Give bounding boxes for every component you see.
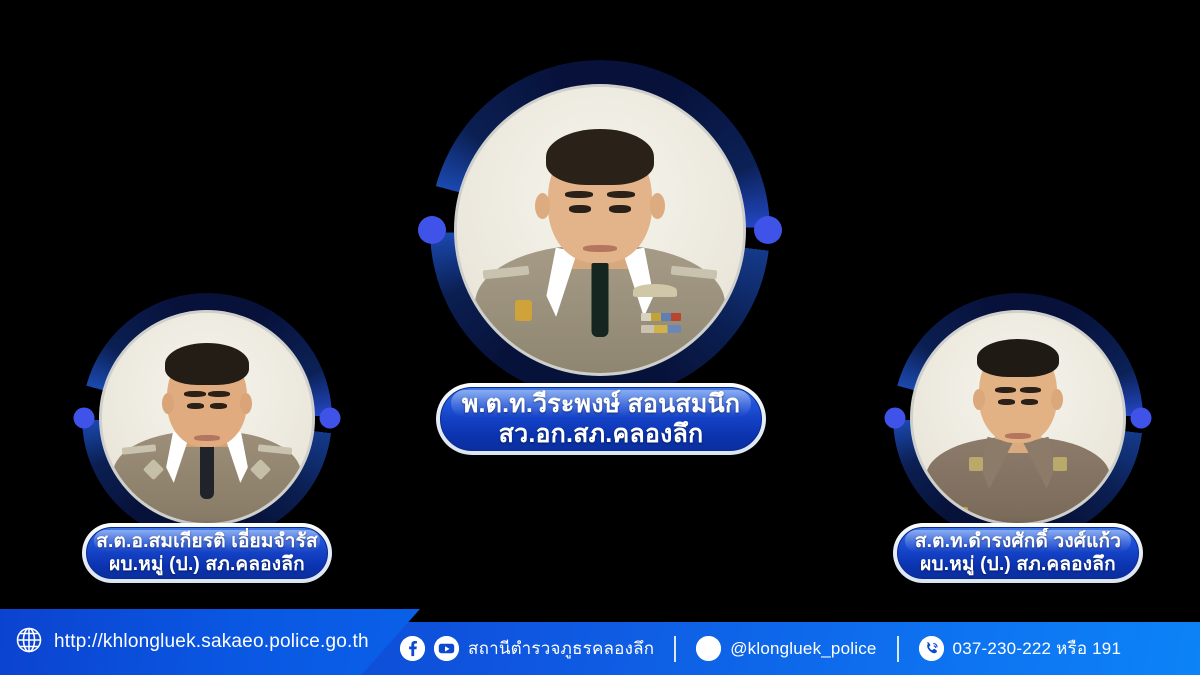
footer-divider-2 bbox=[897, 636, 899, 662]
officer-photo-right bbox=[913, 313, 1123, 523]
officer-name: ส.ต.ท.ดำรงศักดิ์ วงศ์แก้ว bbox=[915, 530, 1121, 553]
officer-rank: สว.อก.สภ.คลองลึก bbox=[499, 419, 704, 450]
officer-card-left: ส.ต.อ.สมเกียรติ เอี่ยมจำรัส ผบ.หมู่ (ป.)… bbox=[82, 293, 332, 543]
officer-card-center: พ.ต.ท.วีระพงษ์ สอนสมนึก สว.อก.สภ.คลองลึก bbox=[430, 60, 770, 400]
youtube-icon[interactable] bbox=[434, 636, 459, 661]
globe-icon bbox=[14, 625, 44, 660]
officer-card-right: ส.ต.ท.ดำรงศักดิ์ วงศ์แก้ว ผบ.หมู่ (ป.) ส… bbox=[893, 293, 1143, 543]
phone-icon[interactable] bbox=[919, 636, 944, 661]
officer-rank: ผบ.หมู่ (ป.) สภ.คลองลึก bbox=[109, 553, 305, 576]
website-url[interactable]: http://khlongluek.sakaeo.police.go.th bbox=[54, 631, 369, 653]
social-tiktok[interactable]: @klongluek_police bbox=[696, 636, 876, 661]
contact-phone-label: 037-230-222 หรือ 191 bbox=[953, 635, 1122, 662]
ring-dot-left-icon bbox=[74, 408, 95, 429]
ring-dot-right-icon bbox=[1131, 408, 1152, 429]
facebook-icon[interactable] bbox=[400, 636, 425, 661]
contact-phone[interactable]: 037-230-222 หรือ 191 bbox=[919, 635, 1122, 662]
officer-name: ส.ต.อ.สมเกียรติ เอี่ยมจำรัส bbox=[96, 530, 318, 553]
officer-figure bbox=[457, 87, 743, 373]
footer-divider-1 bbox=[674, 636, 676, 662]
social-facebook-youtube[interactable]: สถานีตำรวจภูธรคลองลึก bbox=[400, 635, 654, 662]
name-plate-right: ส.ต.ท.ดำรงศักดิ์ วงศ์แก้ว ผบ.หมู่ (ป.) ส… bbox=[893, 523, 1143, 583]
name-plate-center: พ.ต.ท.วีระพงษ์ สอนสมนึก สว.อก.สภ.คลองลึก bbox=[436, 383, 766, 455]
officer-rank: ผบ.หมู่ (ป.) สภ.คลองลึก bbox=[920, 553, 1116, 576]
footer-website-panel[interactable]: http://khlongluek.sakaeo.police.go.th bbox=[0, 609, 420, 675]
footer-bar: สถานีตำรวจภูธรคลองลึก @klongluek_police … bbox=[0, 608, 1200, 675]
officer-figure bbox=[913, 313, 1123, 523]
officer-figure bbox=[102, 313, 312, 523]
officer-photo-left bbox=[102, 313, 312, 523]
social-tiktok-label: @klongluek_police bbox=[730, 639, 876, 659]
ring-dot-right-icon bbox=[320, 408, 341, 429]
officer-name: พ.ต.ท.วีระพงษ์ สอนสมนึก bbox=[462, 389, 740, 420]
tiktok-icon[interactable] bbox=[696, 636, 721, 661]
ring-dot-left-icon bbox=[418, 216, 446, 244]
social-facebook-youtube-label: สถานีตำรวจภูธรคลองลึก bbox=[468, 635, 654, 662]
officer-photo-center bbox=[457, 87, 743, 373]
name-plate-left: ส.ต.อ.สมเกียรติ เอี่ยมจำรัส ผบ.หมู่ (ป.)… bbox=[82, 523, 332, 583]
ring-dot-right-icon bbox=[754, 216, 782, 244]
ring-dot-left-icon bbox=[885, 408, 906, 429]
